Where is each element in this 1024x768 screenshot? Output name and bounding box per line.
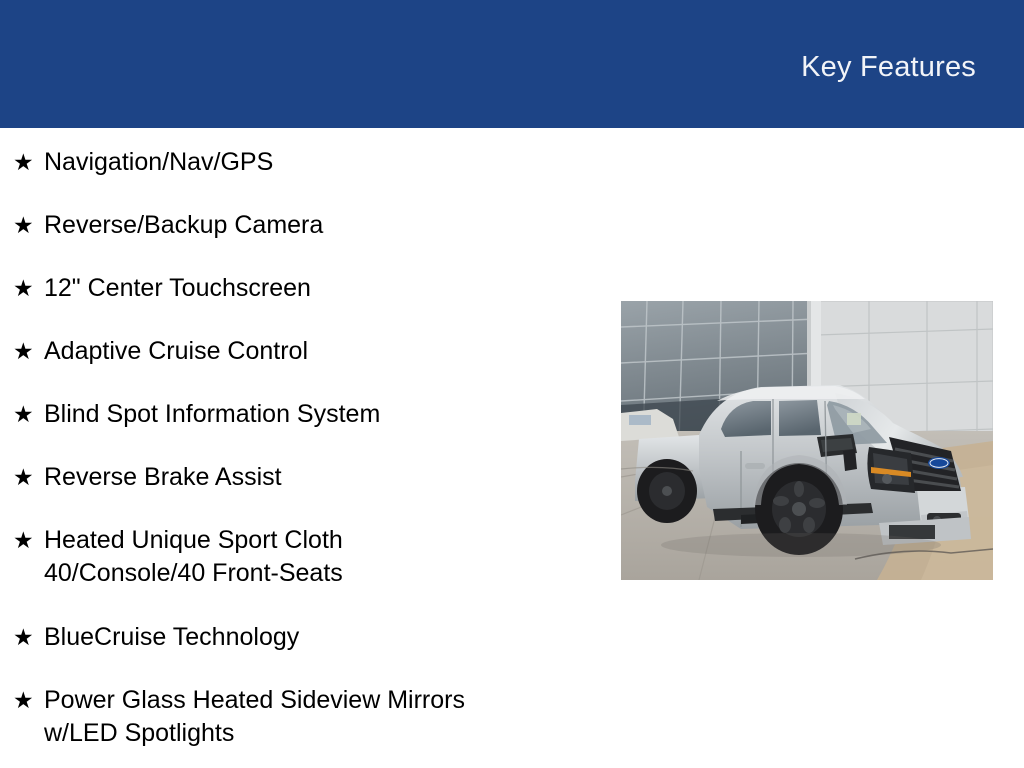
header-banner: Key Features: [0, 0, 1024, 128]
vehicle-photo-image: [621, 301, 993, 580]
star-bullet-icon: ★: [13, 272, 34, 305]
star-bullet-icon: ★: [13, 621, 34, 654]
feature-item-sideview-mirrors: ★Power Glass Heated Sideview Mirrors w/L…: [0, 684, 465, 750]
star-bullet-icon: ★: [13, 146, 34, 179]
feature-item-navigation: ★Navigation/Nav/GPS: [0, 146, 273, 179]
feature-item-reverse-brake: ★Reverse Brake Assist: [0, 461, 282, 494]
star-bullet-icon: ★: [13, 209, 34, 242]
feature-item-label: Heated Unique Sport Cloth 40/Console/40 …: [44, 526, 343, 587]
feature-item-label: 12" Center Touchscreen: [44, 274, 311, 302]
feature-item-heated-seats: ★Heated Unique Sport Cloth 40/Console/40…: [0, 524, 343, 590]
star-bullet-icon: ★: [13, 335, 34, 368]
feature-item-label: Blind Spot Information System: [44, 400, 380, 428]
feature-item-label: Adaptive Cruise Control: [44, 337, 308, 365]
feature-item-label: BlueCruise Technology: [44, 623, 299, 651]
feature-item-bluecruise: ★BlueCruise Technology: [0, 621, 299, 654]
star-bullet-icon: ★: [13, 684, 34, 717]
star-bullet-icon: ★: [13, 461, 34, 494]
page-title: Key Features: [801, 50, 976, 84]
feature-item-blind-spot: ★Blind Spot Information System: [0, 398, 380, 431]
vehicle-photo: [621, 301, 993, 580]
feature-item-touchscreen: ★12" Center Touchscreen: [0, 272, 311, 305]
feature-item-label: Reverse/Backup Camera: [44, 211, 323, 239]
feature-item-reverse-camera: ★Reverse/Backup Camera: [0, 209, 323, 242]
feature-item-label: Reverse Brake Assist: [44, 463, 282, 491]
feature-item-label: Power Glass Heated Sideview Mirrors w/LE…: [44, 686, 465, 747]
star-bullet-icon: ★: [13, 524, 34, 557]
feature-item-label: Navigation/Nav/GPS: [44, 148, 273, 176]
feature-item-adaptive-cruise: ★Adaptive Cruise Control: [0, 335, 308, 368]
star-bullet-icon: ★: [13, 398, 34, 431]
